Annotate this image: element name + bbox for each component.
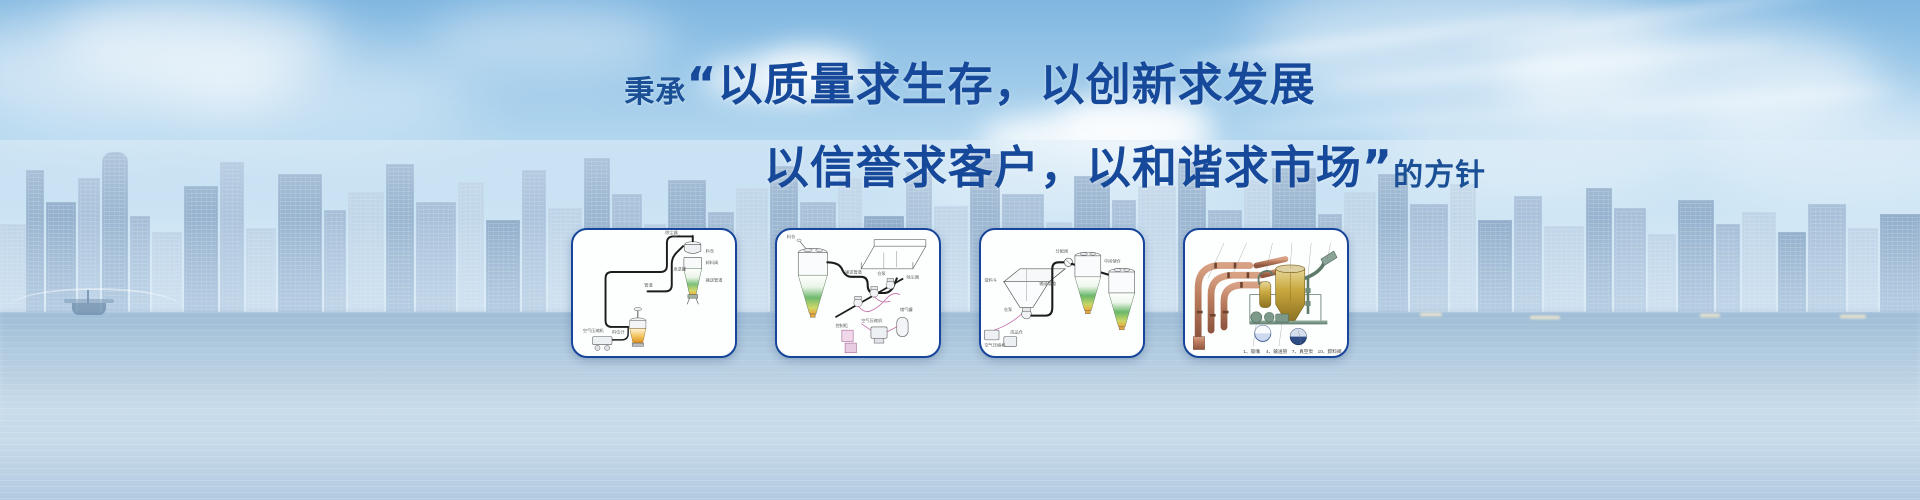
card3-label-diverter: 分配阀 bbox=[1056, 248, 1069, 255]
card2-label-tank: 储气罐 bbox=[900, 306, 913, 313]
headline-line-1-text: 以质量求生存，以创新求发展 bbox=[718, 58, 1316, 111]
pneumatic-conveying-diagram-3: 受料斗 仓泵 输送管道 分配阀 中间储仓 空气压缩机 成品仓 bbox=[981, 230, 1143, 356]
headline-block: 秉承“以质量求生存，以创新求发展 以信誉求客户，以和谐求市场”的方针 bbox=[0, 48, 1920, 196]
close-quote: ” bbox=[1362, 140, 1393, 194]
card2-label-cabinet: 控制柜 bbox=[835, 322, 848, 329]
card3-label-pump: 仓泵 bbox=[1004, 306, 1012, 312]
card3-label-hopper: 受料斗 bbox=[984, 277, 997, 284]
card4-legend-2: 4、输送管 bbox=[1266, 348, 1288, 355]
card1-label-level: 发送罐 bbox=[673, 265, 686, 272]
pneumatic-conveying-diagram-1: 除尘器 料仓 卸料阀 输送管道 发送罐 管道 料位计 空气压缩机 bbox=[573, 230, 735, 356]
card3-label-silo-b: 成品仓 bbox=[1010, 328, 1023, 335]
pneumatic-conveying-diagram-2: 料仓 除尘器 输送管道 储气罐 空气压缩机 控制柜 仓泵 bbox=[777, 230, 939, 356]
diagram-card-2[interactable]: 料仓 除尘器 输送管道 储气罐 空气压缩机 控制柜 仓泵 bbox=[775, 228, 941, 358]
diagram-card-4[interactable]: 1、吸嘴 4、输送管 7、真空泵 10、卸料阀 bbox=[1183, 228, 1349, 358]
card1-label-valve: 卸料阀 bbox=[706, 259, 719, 266]
pipe-assembly-diagram-4: 1、吸嘴 4、输送管 7、真空泵 10、卸料阀 bbox=[1185, 230, 1347, 356]
card1-label-pipe: 输送管道 bbox=[706, 277, 724, 284]
diagram-card-3[interactable]: 受料斗 仓泵 输送管道 分配阀 中间储仓 空气压缩机 成品仓 bbox=[979, 228, 1145, 358]
card2-label-pump: 仓泵 bbox=[877, 270, 885, 276]
card1-label-compressor: 空气压缩机 bbox=[583, 327, 605, 334]
card2-label-compressor: 空气压缩机 bbox=[861, 317, 883, 324]
diagram-card-1[interactable]: 除尘器 料仓 卸料阀 输送管道 发送罐 管道 料位计 空气压缩机 bbox=[571, 228, 737, 358]
headline-line-1: 秉承“以质量求生存，以创新求发展 bbox=[0, 48, 1920, 113]
card4-legend-3: 7、真空泵 bbox=[1292, 348, 1314, 355]
card3-label-compressor: 空气压缩机 bbox=[984, 341, 1006, 348]
headline-line-2-text: 以信誉求客户，以和谐求市场 bbox=[764, 141, 1362, 194]
headline-prefix: 秉承 bbox=[624, 75, 686, 110]
card3-label-silo-a: 中间储仓 bbox=[1104, 257, 1122, 264]
card1-label-duct: 管道 bbox=[644, 282, 653, 289]
open-quote: “ bbox=[686, 57, 717, 111]
card2-label-silo: 料仓 bbox=[787, 233, 796, 240]
card1-label-collector: 除尘器 bbox=[665, 230, 678, 236]
diagram-card-row: 除尘器 料仓 卸料阀 输送管道 发送罐 管道 料位计 空气压缩机 bbox=[0, 228, 1920, 358]
card1-label-silo: 料仓 bbox=[706, 248, 715, 255]
card2-label-pipe: 输送管道 bbox=[845, 269, 863, 276]
headline-line-2: 以信誉求客户，以和谐求市场”的方针 bbox=[0, 131, 1920, 196]
card4-legend-1: 1、吸嘴 bbox=[1243, 348, 1260, 355]
card1-label-sender: 料位计 bbox=[612, 328, 625, 335]
card2-label-dust: 除尘器 bbox=[906, 273, 919, 280]
headline-suffix: 的方针 bbox=[1393, 158, 1486, 193]
card4-legend-4: 10、卸料阀 bbox=[1318, 348, 1342, 355]
card3-label-pipe: 输送管道 bbox=[1039, 280, 1057, 287]
promo-banner: 秉承“以质量求生存，以创新求发展 以信誉求客户，以和谐求市场”的方针 bbox=[0, 0, 1920, 500]
